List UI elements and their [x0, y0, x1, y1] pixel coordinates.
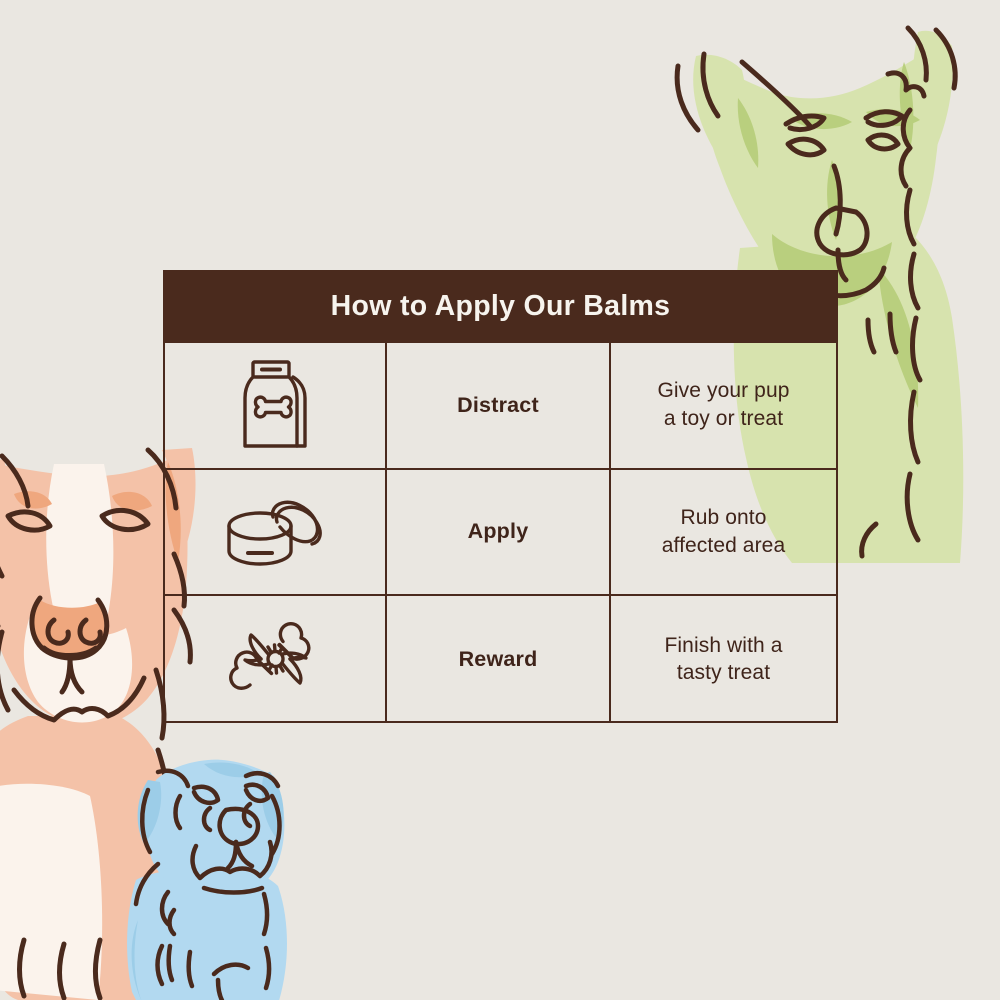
step-description-line1: Give your pup	[657, 379, 789, 402]
step-name-cell: Apply	[387, 470, 611, 595]
step-description-cell: Rub onto affected area	[611, 470, 836, 595]
step-icon-cell	[165, 596, 387, 723]
step-description-line2: affected area	[662, 532, 786, 560]
step-description-line1: Rub onto	[680, 506, 766, 529]
instruction-table: How to Apply Our Balms	[163, 270, 838, 723]
step-name-cell: Reward	[387, 596, 611, 723]
step-description-cell: Finish with a tasty treat	[611, 596, 836, 723]
table-row: Apply Rub onto affected area	[165, 470, 836, 597]
table-row: Distract Give your pup a toy or treat	[165, 343, 836, 470]
poster-canvas: How to Apply Our Balms	[0, 0, 1000, 1000]
treat-bag-icon	[236, 358, 314, 452]
step-description-line1: Finish with a	[664, 634, 782, 657]
bone-with-bow-icon	[227, 611, 323, 707]
step-name-cell: Distract	[387, 343, 611, 468]
step-description-cell: Give your pup a toy or treat	[611, 343, 836, 468]
step-description: Give your pup a toy or treat	[645, 377, 801, 433]
table-header: How to Apply Our Balms	[163, 270, 838, 343]
page-title: How to Apply Our Balms	[331, 290, 671, 323]
table-row: Reward Finish with a tasty treat	[165, 596, 836, 723]
step-description-line2: a toy or treat	[657, 405, 789, 433]
balm-jar-icon	[223, 489, 327, 575]
table-body: Distract Give your pup a toy or treat	[163, 343, 838, 723]
step-icon-cell	[165, 470, 387, 595]
step-label: Distract	[457, 393, 539, 418]
step-label: Apply	[468, 519, 529, 544]
step-description: Finish with a tasty treat	[652, 632, 794, 688]
step-label: Reward	[459, 647, 538, 672]
step-description-line2: tasty treat	[664, 659, 782, 687]
step-description: Rub onto affected area	[650, 504, 798, 560]
blue-dog-illustration	[118, 742, 343, 1000]
step-icon-cell	[165, 343, 387, 468]
